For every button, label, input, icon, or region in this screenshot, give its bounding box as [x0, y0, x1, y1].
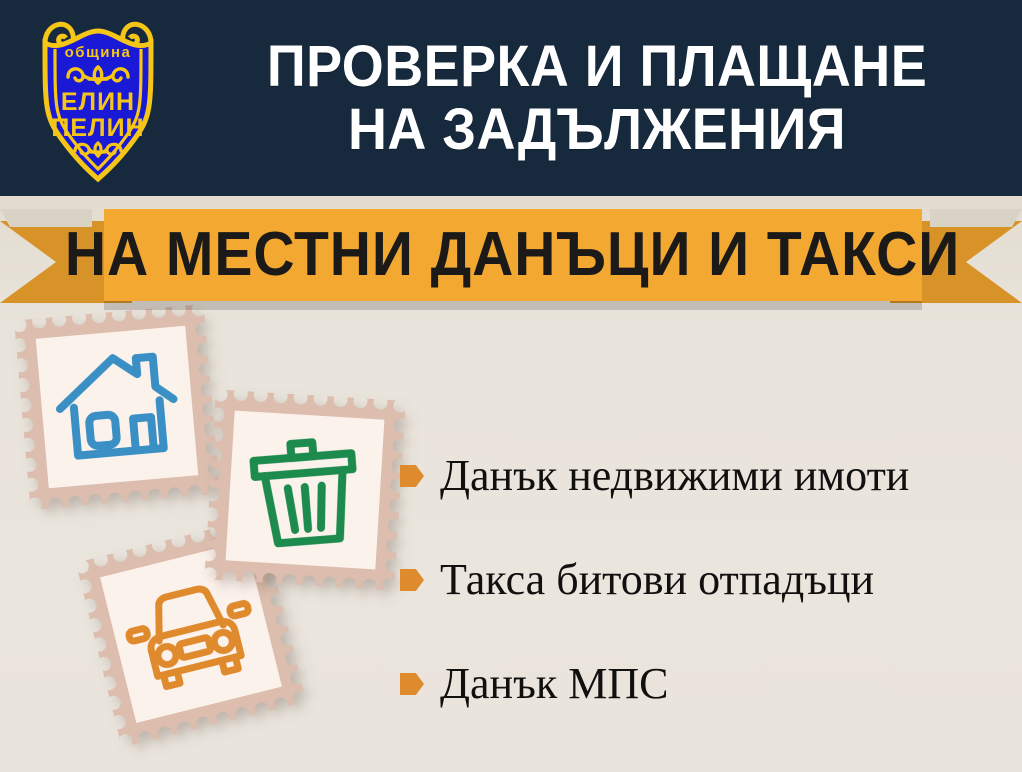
poster-root: община ЕЛИН ПЕЛИН — [0, 0, 1022, 772]
stamp-card-house — [14, 304, 220, 510]
list-item-label: Такса битови отпадъци — [440, 557, 874, 603]
list-item-label: Данък недвижими имоти — [440, 453, 909, 499]
list-item[interactable]: Данък МПС — [400, 632, 1000, 736]
title-line-2: НА ЗАДЪЛЖЕНИЯ — [224, 100, 970, 159]
stamp-card-trash — [204, 389, 405, 590]
svg-text:ПЕЛИН: ПЕЛИН — [51, 114, 144, 142]
list-item-label: Данък МПС — [440, 661, 668, 707]
arrow-bullet-icon — [400, 673, 424, 695]
svg-text:ЕЛИН: ЕЛИН — [61, 88, 135, 116]
svg-text:община: община — [65, 44, 132, 61]
subtitle-ribbon: НА МЕСТНИ ДАНЪЦИ И ТАКСИ — [0, 199, 1022, 303]
list-item[interactable]: Такса битови отпадъци — [400, 528, 1000, 632]
ribbon-text: НА МЕСТНИ ДАНЪЦИ И ТАКСИ — [65, 224, 960, 286]
title-line-1: ПРОВЕРКА И ПЛАЩАНЕ — [224, 37, 970, 96]
arrow-bullet-icon — [400, 569, 424, 591]
coat-of-arms-icon: община ЕЛИН ПЕЛИН — [23, 9, 173, 187]
ribbon-band: НА МЕСТНИ ДАНЪЦИ И ТАКСИ — [104, 209, 922, 301]
poster-title: ПРОВЕРКА И ПЛАЩАНЕ НА ЗАДЪЛЖЕНИЯ — [196, 37, 1022, 159]
service-list: Данък недвижими имоти Такса битови отпад… — [400, 424, 1000, 736]
header-bar: община ЕЛИН ПЕЛИН — [0, 0, 1022, 196]
municipality-crest: община ЕЛИН ПЕЛИН — [0, 0, 196, 196]
arrow-bullet-icon — [400, 465, 424, 487]
list-item[interactable]: Данък недвижими имоти — [400, 424, 1000, 528]
ribbon-shadow — [104, 300, 922, 310]
